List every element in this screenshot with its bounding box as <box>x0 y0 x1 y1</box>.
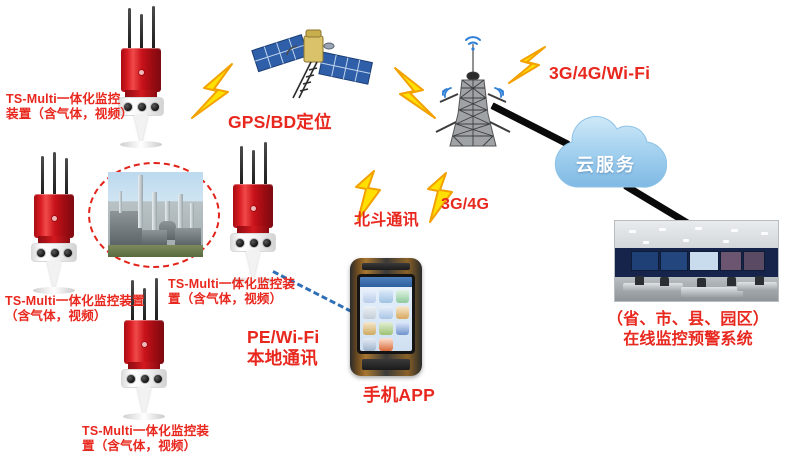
camera-lens <box>50 248 60 258</box>
camera-lens <box>137 102 147 112</box>
plant-unit <box>142 230 167 245</box>
video-wall-panel <box>689 251 719 271</box>
ts-multi-device-mid[interactable] <box>224 142 282 282</box>
camera-lens <box>36 248 46 258</box>
antenna <box>152 6 155 50</box>
satellite-icon <box>247 12 373 108</box>
label-device-left: TS-Multi一体化监控装置 （含气体，视频） <box>5 294 145 325</box>
control-room-photo[interactable] <box>614 220 779 302</box>
camera-lens <box>63 248 73 258</box>
cloud-shape <box>545 115 667 197</box>
ceiling-light <box>683 239 689 242</box>
label-3g4g: 3G/4G <box>441 195 489 215</box>
video-wall-panel <box>631 251 659 271</box>
ts-multi-device-top[interactable] <box>112 6 170 146</box>
device-red-body <box>121 48 161 92</box>
plant-unit <box>175 228 202 245</box>
antenna-group <box>112 6 170 50</box>
ceiling-light <box>723 240 729 243</box>
antenna <box>140 14 143 50</box>
camera-lens <box>235 238 245 248</box>
device-red-body <box>233 184 273 228</box>
chair <box>727 277 736 286</box>
video-wall-panel <box>720 251 742 271</box>
label-mobile-app: 手机APP <box>363 385 435 406</box>
ceiling <box>615 221 778 248</box>
plant-chimney <box>138 175 143 228</box>
label-center-system: （省、市、县、园区） 在线监控预警系统 <box>607 310 769 349</box>
camera-lens <box>140 374 150 384</box>
pda-screen[interactable] <box>360 277 412 351</box>
label-device-mid: TS-Multi一体化监控装 置（含气体，视频） <box>168 277 295 308</box>
app-icon[interactable] <box>363 306 376 319</box>
label-3g4g-wifi: 3G/4G/Wi-Fi <box>549 63 650 84</box>
video-wall-panel <box>660 251 688 271</box>
chair <box>697 278 706 287</box>
ceiling-light <box>629 230 636 233</box>
pda-bottom-grip <box>362 359 410 370</box>
antenna <box>65 158 68 196</box>
pda-bezel <box>357 274 415 354</box>
pda-top-grip <box>362 263 410 270</box>
operator-desk <box>681 287 743 297</box>
chair <box>660 277 669 286</box>
app-icon <box>396 338 409 351</box>
app-icon[interactable] <box>379 322 392 335</box>
app-icon[interactable] <box>363 338 376 351</box>
antenna <box>41 156 44 196</box>
ceiling-light <box>695 227 702 230</box>
diagram-canvas: 云服务 <box>0 0 797 464</box>
app-icon[interactable] <box>363 322 376 335</box>
camera-lens <box>249 238 259 248</box>
plant-ground <box>108 245 203 257</box>
antenna <box>53 152 56 196</box>
video-wall-panel <box>743 251 765 271</box>
label-gps: GPS/BD定位 <box>228 112 332 133</box>
pda-statusbar <box>360 277 412 287</box>
label-device-bottom: TS-Multi一体化监控装 置（含气体，视频） <box>82 424 209 455</box>
chair <box>755 276 764 285</box>
app-icon[interactable] <box>396 306 409 319</box>
ts-multi-device-left[interactable] <box>25 152 83 292</box>
plant-mast <box>119 191 122 213</box>
camera-lens <box>153 374 163 384</box>
app-icon[interactable] <box>396 322 409 335</box>
app-icon[interactable] <box>396 290 409 303</box>
antenna-group <box>25 152 83 196</box>
antenna-group <box>224 142 282 186</box>
antenna <box>264 142 267 186</box>
device-base-cone <box>25 261 83 291</box>
camera-lens <box>262 238 272 248</box>
sensor-collar <box>230 233 276 252</box>
antenna <box>128 8 131 50</box>
app-icon[interactable] <box>379 306 392 319</box>
pda-app-grid[interactable] <box>363 290 409 351</box>
camera-lens <box>150 102 160 112</box>
label-local-comm: PE/Wi-Fi 本地通讯 <box>247 327 319 370</box>
ceiling-light <box>659 228 666 231</box>
device-red-body <box>34 194 74 238</box>
refinery-plant-photo[interactable] <box>108 172 203 257</box>
chair <box>635 276 644 285</box>
sensor-collar <box>121 369 167 388</box>
label-beidou: 北斗通讯 <box>354 211 419 231</box>
ceiling-light <box>731 229 738 232</box>
operator-desk <box>623 283 683 292</box>
antenna <box>240 146 243 186</box>
device-base-cone <box>115 387 173 417</box>
cell-tower-icon <box>430 18 516 150</box>
app-icon[interactable] <box>363 290 376 303</box>
ceiling-light <box>643 241 649 244</box>
label-device-top: TS-Multi一体化监控 装置（含气体，视频） <box>6 92 133 123</box>
cloud-icon[interactable]: 云服务 <box>545 115 667 197</box>
sensor-collar <box>31 243 77 262</box>
plant-column <box>152 192 158 233</box>
antenna <box>252 150 255 186</box>
app-icon[interactable] <box>379 290 392 303</box>
antenna <box>155 278 158 322</box>
device-red-body <box>124 320 164 364</box>
camera-lens <box>126 374 136 384</box>
app-icon[interactable] <box>379 338 392 351</box>
rugged-handheld-device[interactable] <box>350 258 422 376</box>
ceiling-light <box>761 232 768 235</box>
